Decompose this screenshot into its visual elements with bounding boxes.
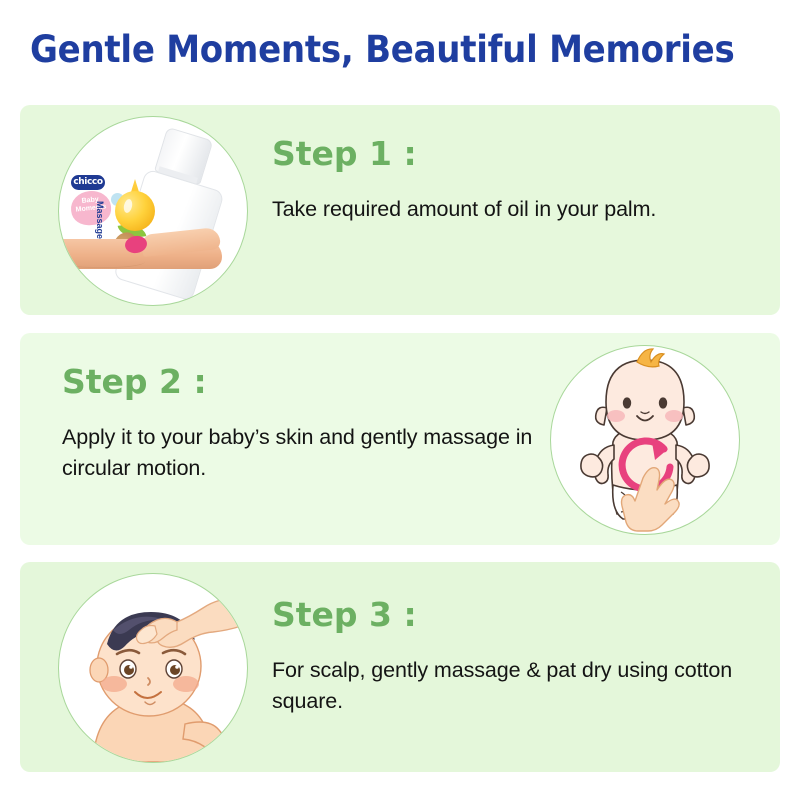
step-1-body: Take required amount of oil in your palm…	[272, 194, 742, 225]
oil-drop-body	[115, 191, 155, 231]
baby-moments-heart-badge: Baby Moments	[69, 189, 112, 227]
right-cheek	[665, 410, 683, 422]
baby-scalp-massage-drawing	[59, 574, 247, 762]
oil-drop-icon	[115, 179, 155, 231]
right-eye	[659, 397, 667, 408]
right-cheek	[173, 676, 199, 692]
baby-moments-label: Baby Moments	[70, 195, 111, 215]
step-3-body: For scalp, gently massage & pat dry usin…	[272, 655, 752, 716]
baby-massage-drawing	[551, 346, 739, 534]
chicco-logo: chicco	[71, 175, 105, 190]
page-title: Gentle Moments, Beautiful Memories	[30, 28, 729, 71]
step-panel-3: Step 3 : For scalp, gently massage & pat…	[20, 562, 780, 772]
step-panel-1: chicco Baby Moments Massage Oil Step 1 :…	[20, 105, 780, 315]
step-panel-2: Step 2 : Apply it to your baby’s skin an…	[20, 333, 780, 545]
step-2-illustration	[550, 345, 740, 535]
step-1-text: Step 1 : Take required amount of oil in …	[272, 137, 742, 225]
step-3-text: Step 3 : For scalp, gently massage & pat…	[272, 598, 752, 716]
step-2-text: Step 2 : Apply it to your baby’s skin an…	[62, 365, 542, 483]
step-2-body: Apply it to your baby’s skin and gently …	[62, 422, 542, 483]
left-cheek	[607, 410, 625, 422]
left-eye	[623, 397, 631, 408]
step-2-heading: Step 2 :	[62, 365, 542, 398]
step-3-heading: Step 3 :	[272, 598, 752, 631]
step-1-heading: Step 1 :	[272, 137, 742, 170]
open-palm-icon	[58, 229, 237, 275]
left-cheek	[101, 676, 127, 692]
step-1-illustration: chicco Baby Moments Massage Oil	[58, 116, 248, 306]
step-3-illustration	[58, 573, 248, 763]
palm-crease	[71, 255, 145, 268]
